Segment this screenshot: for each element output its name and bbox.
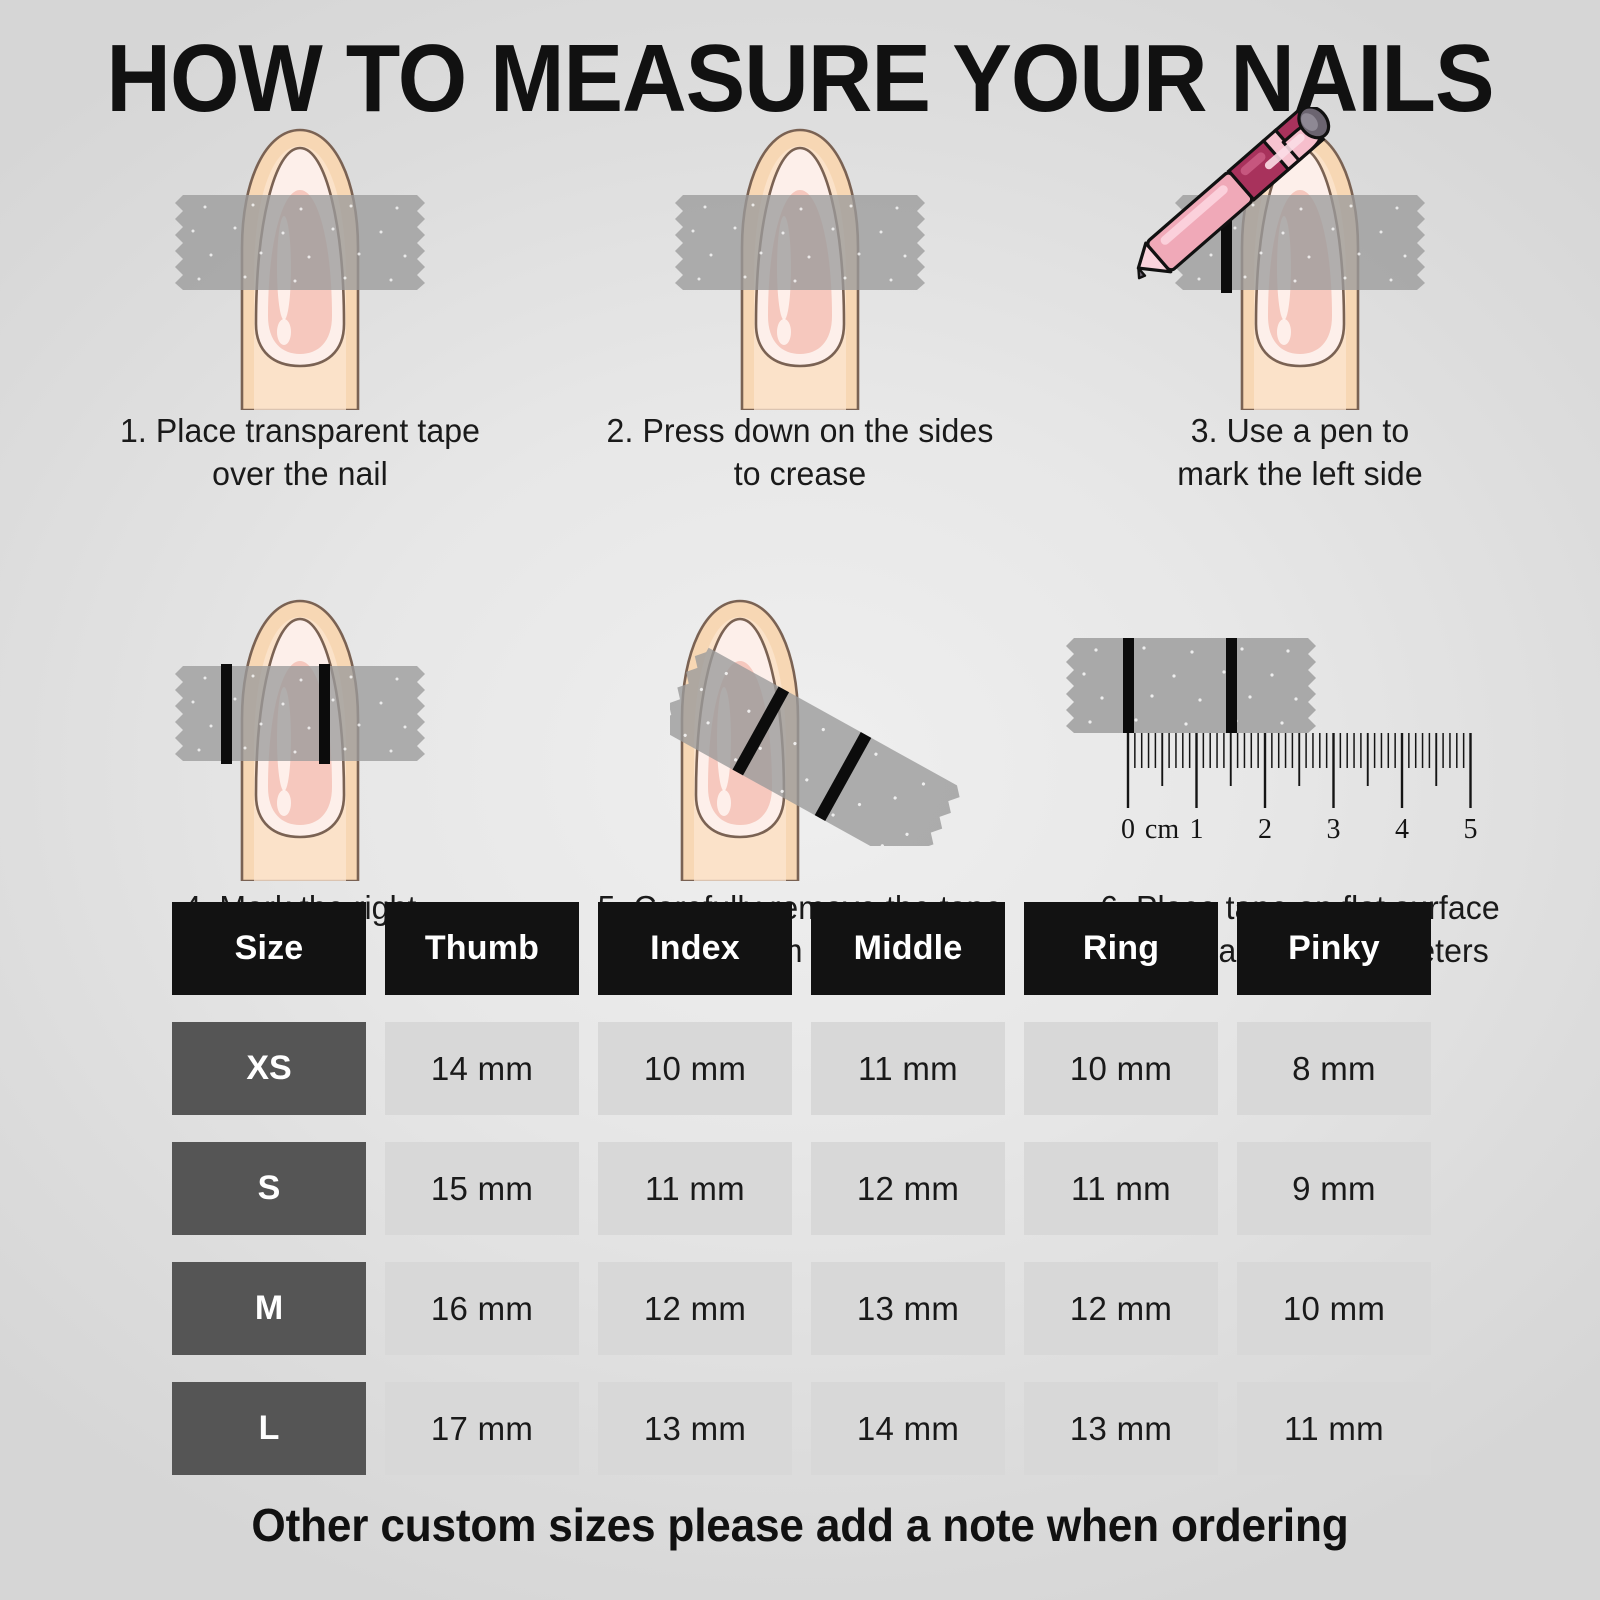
step-3: 3. Use a pen to mark the left side [1050, 125, 1550, 496]
cell-thumb: 16 mm [385, 1262, 579, 1355]
step-6-illustration: 0 cm 1 2 3 4 5 [1050, 596, 1550, 881]
table-row: XS 14 mm 10 mm 11 mm 10 mm 8 mm [172, 1022, 1442, 1115]
pen-mark-right [319, 664, 330, 764]
cell-ring: 13 mm [1024, 1382, 1218, 1475]
step-4-illustration [50, 596, 550, 881]
tape-strip-removed [670, 646, 1000, 846]
column-header-pinky: Pinky [1237, 902, 1431, 995]
cell-thumb: 17 mm [385, 1382, 579, 1475]
cell-index: 13 mm [598, 1382, 792, 1475]
cell-ring: 10 mm [1024, 1022, 1218, 1115]
column-header-index: Index [598, 902, 792, 995]
step-5-illustration [550, 596, 1050, 881]
cell-pinky: 10 mm [1237, 1262, 1431, 1355]
step-3-caption-line2: mark the left side [1067, 453, 1533, 496]
ruler-tick-4: 4 [1395, 814, 1409, 845]
size-label: L [172, 1382, 366, 1475]
steps-section: 1. Place transparent tape over the nail [50, 125, 1550, 973]
step-2-illustration [550, 125, 1050, 410]
table-row: L 17 mm 13 mm 14 mm 13 mm 11 mm [172, 1382, 1442, 1475]
size-label: M [172, 1262, 366, 1355]
step-1-caption: 1. Place transparent tape over the nail [58, 410, 543, 496]
step-2-caption-line2: to crease [567, 453, 1033, 496]
ruler-illustration: 0 cm 1 2 3 4 5 [1066, 616, 1536, 861]
step-3-caption: 3. Use a pen to mark the left side [1058, 410, 1543, 496]
column-header-size: Size [172, 902, 366, 995]
tape-strip-creased [675, 195, 925, 290]
step-2-caption-line1: 2. Press down on the sides [567, 410, 1033, 453]
cell-index: 10 mm [598, 1022, 792, 1115]
ruler-tick-2: 2 [1258, 814, 1272, 845]
table-header-row: Size Thumb Index Middle Ring Pinky [172, 902, 1442, 995]
cell-thumb: 15 mm [385, 1142, 579, 1235]
cell-middle: 14 mm [811, 1382, 1005, 1475]
step-2-caption: 2. Press down on the sides to crease [558, 410, 1043, 496]
step-3-illustration [1050, 125, 1550, 410]
table-row: S 15 mm 11 mm 12 mm 11 mm 9 mm [172, 1142, 1442, 1235]
column-header-ring: Ring [1024, 902, 1218, 995]
footer-note: Other custom sizes please add a note whe… [32, 1498, 1568, 1552]
step-1-caption-line1: 1. Place transparent tape [67, 410, 533, 453]
step-1-caption-line2: over the nail [67, 453, 533, 496]
column-header-thumb: Thumb [385, 902, 579, 995]
steps-row-top: 1. Place transparent tape over the nail [50, 125, 1550, 496]
cell-ring: 11 mm [1024, 1142, 1218, 1235]
cell-middle: 12 mm [811, 1142, 1005, 1235]
size-label: XS [172, 1022, 366, 1115]
ruler-tick-1: 1 [1190, 814, 1204, 845]
ruler-unit-label: cm [1145, 814, 1179, 845]
cell-middle: 11 mm [811, 1022, 1005, 1115]
tape-strip [175, 666, 425, 761]
ruler-tick-5: 5 [1464, 814, 1478, 845]
cell-index: 11 mm [598, 1142, 792, 1235]
tape-strip [175, 195, 425, 290]
step-1: 1. Place transparent tape over the nail [50, 125, 550, 496]
cell-pinky: 8 mm [1237, 1022, 1431, 1115]
cell-pinky: 9 mm [1237, 1142, 1431, 1235]
column-header-middle: Middle [811, 902, 1005, 995]
ruler-tick-0: 0 [1121, 814, 1135, 845]
cell-middle: 13 mm [811, 1262, 1005, 1355]
step-3-caption-line1: 3. Use a pen to [1067, 410, 1533, 453]
cell-thumb: 14 mm [385, 1022, 579, 1115]
step-2: 2. Press down on the sides to crease [550, 125, 1050, 496]
cell-index: 12 mm [598, 1262, 792, 1355]
size-label: S [172, 1142, 366, 1235]
infographic-page: HOW TO MEASURE YOUR NAILS [0, 0, 1600, 1600]
pen-mark-left [221, 664, 232, 764]
step-1-illustration [50, 125, 550, 410]
table-row: M 16 mm 12 mm 13 mm 12 mm 10 mm [172, 1262, 1442, 1355]
ruler-tick-3: 3 [1327, 814, 1341, 845]
cell-pinky: 11 mm [1237, 1382, 1431, 1475]
pen-icon [1102, 107, 1352, 307]
cell-ring: 12 mm [1024, 1262, 1218, 1355]
size-chart-table: Size Thumb Index Middle Ring Pinky XS 14… [172, 902, 1442, 1475]
